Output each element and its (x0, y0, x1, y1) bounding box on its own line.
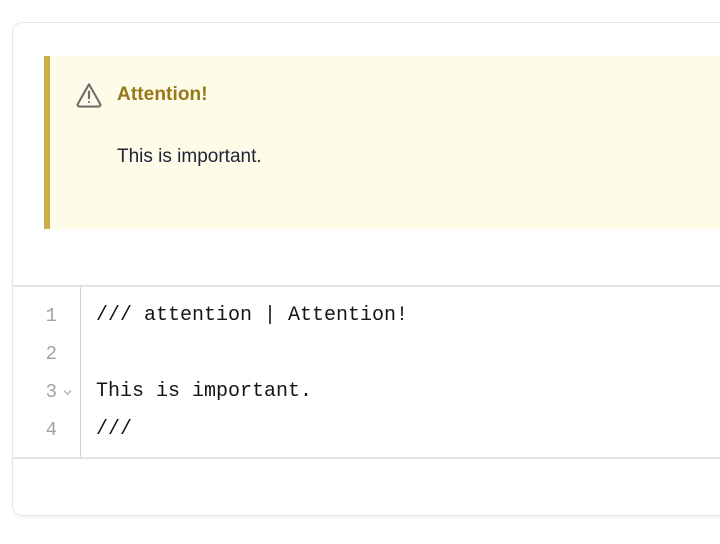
code-line[interactable]: /// attention | Attention! (96, 297, 720, 335)
editor-footer (13, 459, 720, 513)
line-number: 1 (46, 307, 57, 326)
editor-gutter: 1 2 (13, 287, 81, 457)
line-number: 2 (46, 345, 57, 364)
line-number: 3 (46, 383, 57, 402)
code-line[interactable]: This is important. (96, 373, 720, 411)
admonition-body-text: This is important. (117, 146, 262, 168)
gutter-row: 1 (13, 297, 80, 335)
warning-triangle-icon (74, 80, 104, 110)
code-editor-pane: 1 2 (13, 287, 720, 515)
gutter-row: 4 (13, 411, 80, 449)
preview-pane: Attention! This is important. (13, 23, 720, 287)
line-number: 4 (46, 421, 57, 440)
code-line[interactable]: /// (96, 411, 720, 449)
gutter-row: 3 (13, 373, 80, 411)
page-root: Attention! This is important. 1 (0, 0, 720, 544)
code-editor-body[interactable]: 1 2 (13, 287, 720, 459)
gutter-row: 2 (13, 335, 80, 373)
admonition-attention: Attention! This is important. (44, 56, 720, 229)
code-text-area[interactable]: /// attention | Attention! This is impor… (81, 287, 720, 457)
admonition-demo-card: Attention! This is important. 1 (12, 22, 720, 516)
chevron-down-icon[interactable] (60, 388, 74, 397)
admonition-title: Attention! (117, 84, 208, 106)
code-line[interactable] (96, 335, 720, 373)
admonition-title-row: Attention! (74, 80, 208, 110)
